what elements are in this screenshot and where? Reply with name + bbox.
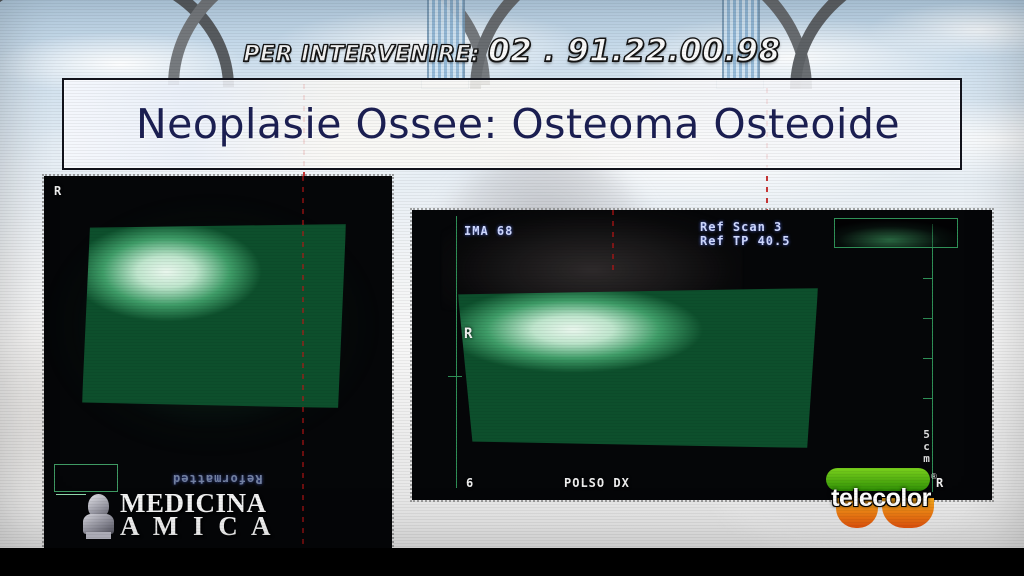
program-watermark: MEDICINA A M I C A (82, 492, 275, 540)
ruler-tick-4 (923, 398, 932, 399)
right-panel-red-marker (612, 210, 614, 270)
left-scan-annotation-box (54, 464, 118, 492)
right-ct-image (458, 288, 818, 448)
logo-trademark-icon: ® (931, 472, 937, 481)
page-title: Neoplasie Ossee: Osteoma Osteoide (64, 100, 900, 148)
right-scan-ref-scan: Ref Scan 3 (700, 220, 782, 234)
left-scan-footer-text: Reformatted (172, 472, 262, 486)
left-panel-red-marker (302, 176, 304, 548)
right-scan-localizer-minimap (834, 218, 958, 248)
right-scan-left-tick (448, 376, 462, 377)
letterbox-bar (0, 548, 1024, 576)
lower-third-title-box: Neoplasie Ossee: Osteoma Osteoide (62, 78, 962, 170)
right-scan-body-part-label: POLSO DX (564, 476, 630, 490)
classical-bust-icon (82, 492, 116, 540)
ruler-tick-1 (923, 278, 932, 279)
left-orientation-marker: R (54, 184, 62, 198)
ruler-tick-2 (923, 318, 932, 319)
right-scan-image-number: IMA 68 (464, 224, 513, 238)
telecolor-logo: telecolor ® (812, 468, 950, 530)
left-ct-image (82, 224, 346, 408)
phone-banner: PER INTERVENIRE:02 . 91.22.00.98 (0, 33, 1024, 69)
tv-broadcast-frame: PER INTERVENIRE:02 . 91.22.00.98 Neoplas… (0, 0, 1024, 576)
right-ct-scan-panel: IMA 68 Ref Scan 3 Ref TP 40.5 R 6 POLSO … (412, 210, 992, 500)
logo-wordmark: telecolor (812, 484, 950, 513)
right-scan-bottom-left-marker: 6 (466, 476, 474, 490)
phone-label: PER INTERVENIRE: (243, 42, 480, 67)
phone-number: 02 . 91.22.00.98 (488, 33, 780, 69)
right-orientation-marker-left: R (464, 326, 473, 342)
watermark-line-2: A M I C A (120, 515, 275, 538)
right-scan-ref-tp: Ref TP 40.5 (700, 234, 790, 248)
right-scan-scale-label: 5cm (920, 428, 933, 464)
right-scan-left-rail (456, 216, 457, 488)
ruler-tick-3 (923, 358, 932, 359)
